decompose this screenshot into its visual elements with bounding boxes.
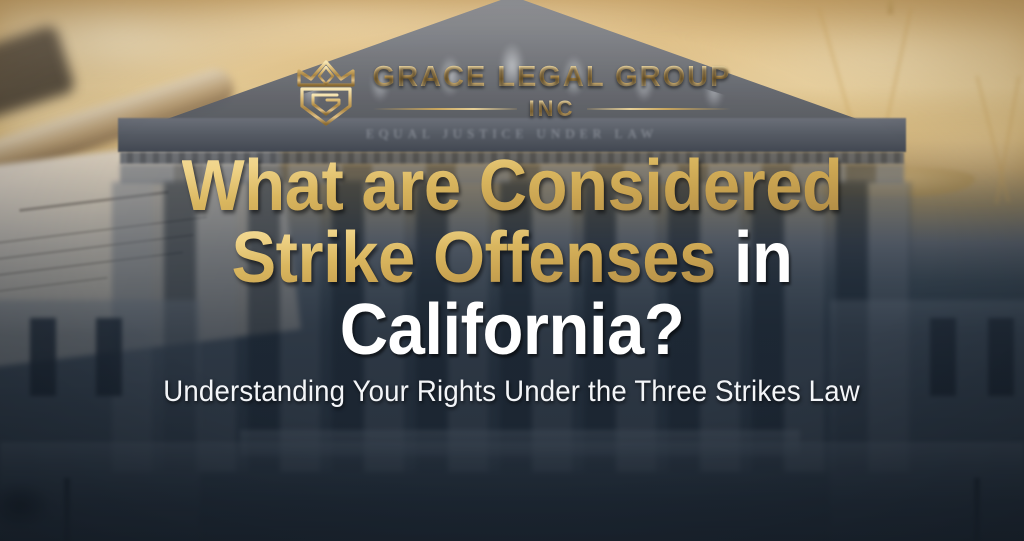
brand-name: GRACE LEGAL GROUP [373,63,732,92]
headline-line-3: California? [56,296,967,366]
brand-suffix: INC [529,98,576,120]
page-subtitle: Understanding Your Rights Under the Thre… [164,375,861,409]
headline-line-2: Strike Offenses in [56,224,967,294]
crown-shield-g-icon [293,54,359,128]
headline-line-3-text: California? [340,290,685,370]
headline-line-1: What are Considered [56,152,967,222]
headline-line-2-white-text: in [734,218,793,298]
banner-content: GRACE LEGAL GROUP INC What are Considere… [0,0,1024,541]
page-title: What are Considered Strike Offenses in C… [56,152,967,365]
brand-logo-lockup[interactable]: GRACE LEGAL GROUP INC [293,54,732,128]
headline-line-1-text: What are Considered [182,146,843,226]
headline-line-2-gold-text: Strike Offenses [231,218,715,298]
brand-suffix-row: INC [373,98,732,120]
divider-line-left [373,108,517,110]
brand-wordmark: GRACE LEGAL GROUP INC [373,63,732,120]
hero-banner: EQUAL JUSTICE UNDER LAW [0,0,1024,541]
divider-line-right [587,108,731,110]
